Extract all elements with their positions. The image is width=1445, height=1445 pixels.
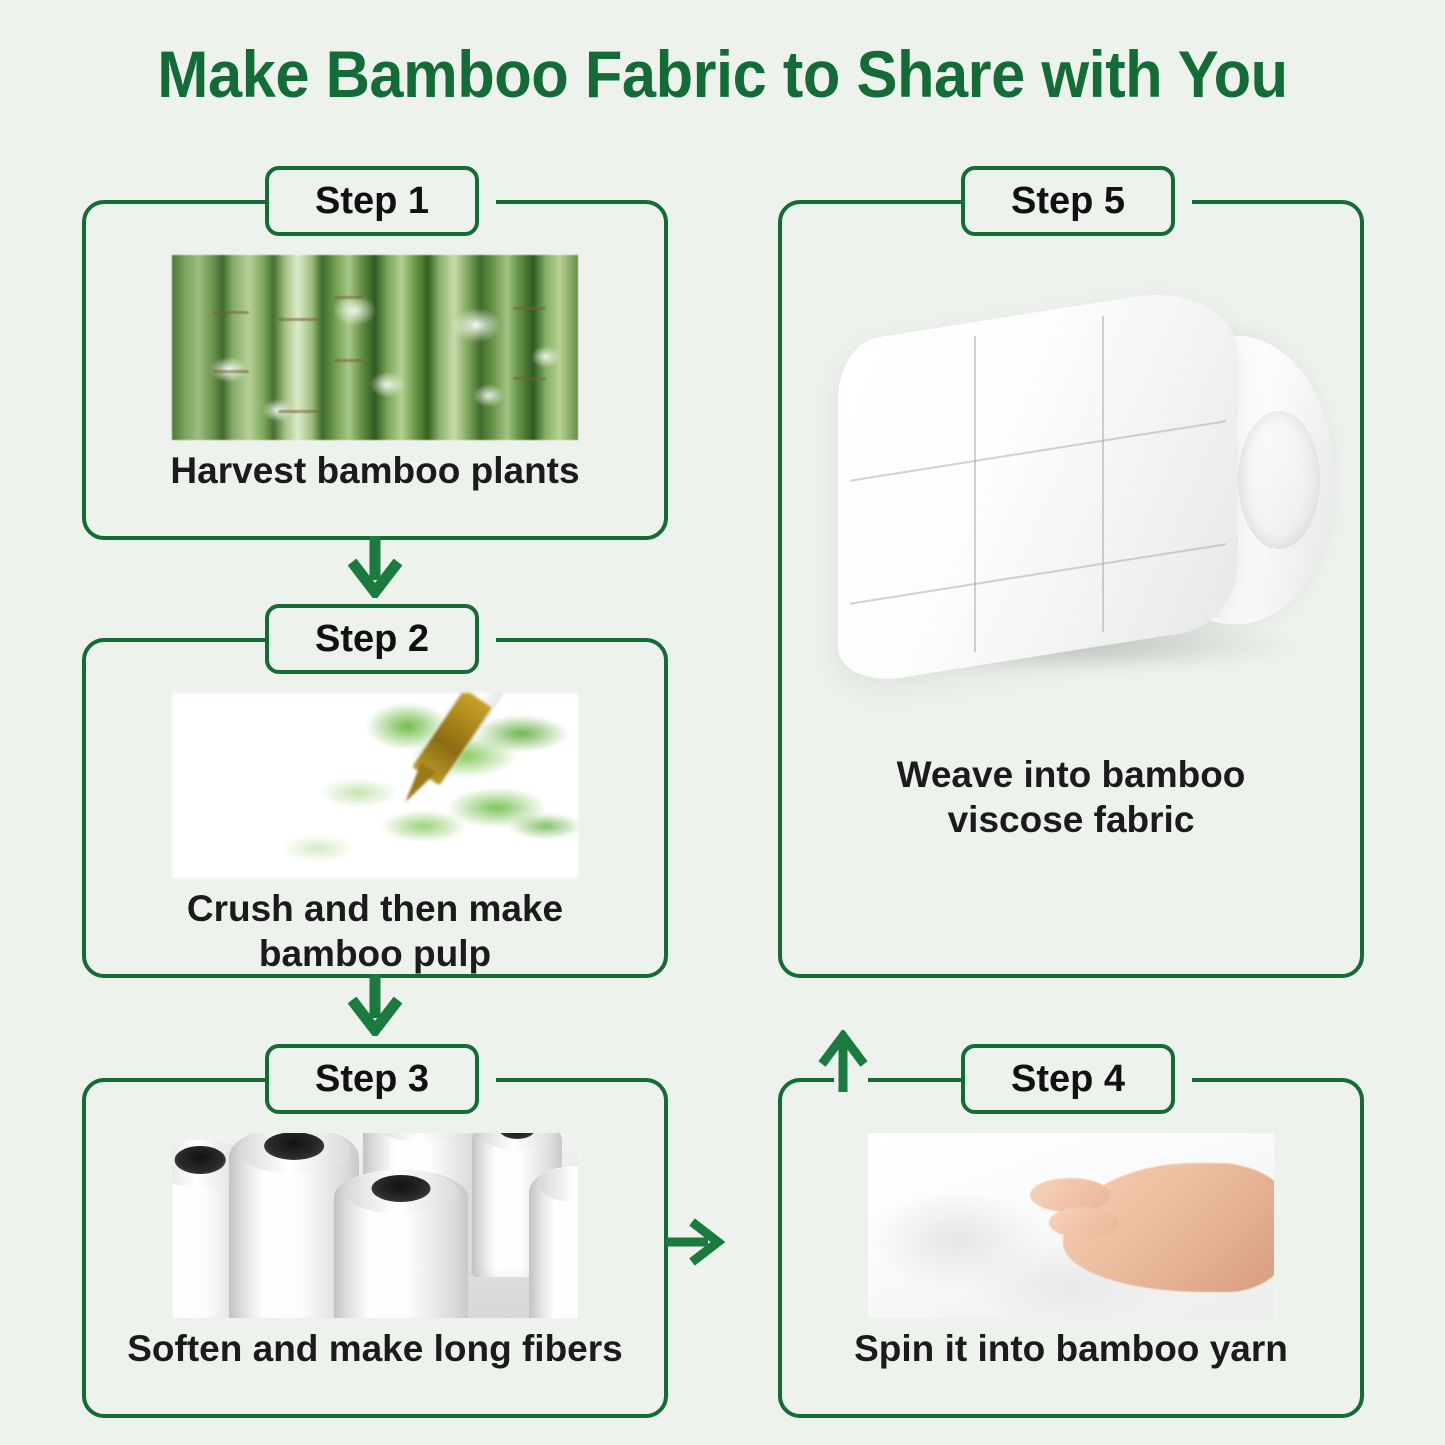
step-4-badge: Step 4 <box>961 1044 1175 1114</box>
bamboo-pulp-dropper-photo <box>172 693 578 878</box>
step-2-badge: Step 2 <box>265 604 479 674</box>
step-4-caption: Spin it into bamboo yarn <box>778 1326 1364 1371</box>
step-4-badge-label: Step 4 <box>1011 1058 1125 1101</box>
step-5-caption: Weave into bamboo viscose fabric <box>778 752 1364 842</box>
arrow-step3-to-step4 <box>666 1215 726 1269</box>
rolled-comforter-photo <box>806 280 1346 680</box>
step-3-badge-label: Step 3 <box>315 1058 429 1101</box>
thread-spools-photo <box>172 1133 578 1318</box>
step-5-badge-label: Step 5 <box>1011 180 1125 223</box>
hand-illustration <box>1063 1163 1274 1293</box>
dropper-illustration <box>347 693 562 854</box>
step-3-caption: Soften and make long fibers <box>82 1326 668 1371</box>
page-title: Make Bamboo Fabric to Share with You <box>51 36 1395 112</box>
arrow-step2-to-step3 <box>346 974 404 1036</box>
arrow-step1-to-step2 <box>346 536 404 598</box>
arrow-step4-to-step5 <box>814 1030 872 1092</box>
step-3-badge: Step 3 <box>265 1044 479 1114</box>
hand-on-fabric-photo <box>868 1133 1274 1318</box>
bamboo-forest-photo <box>172 255 578 440</box>
step-1-badge-label: Step 1 <box>315 180 429 223</box>
infographic-canvas: Make Bamboo Fabric to Share with You Ste… <box>0 0 1445 1445</box>
step-1-badge: Step 1 <box>265 166 479 236</box>
step-5-badge: Step 5 <box>961 166 1175 236</box>
step-1-caption: Harvest bamboo plants <box>82 448 668 493</box>
step-2-badge-label: Step 2 <box>315 618 429 661</box>
step-2-caption: Crush and then make bamboo pulp <box>82 886 668 976</box>
